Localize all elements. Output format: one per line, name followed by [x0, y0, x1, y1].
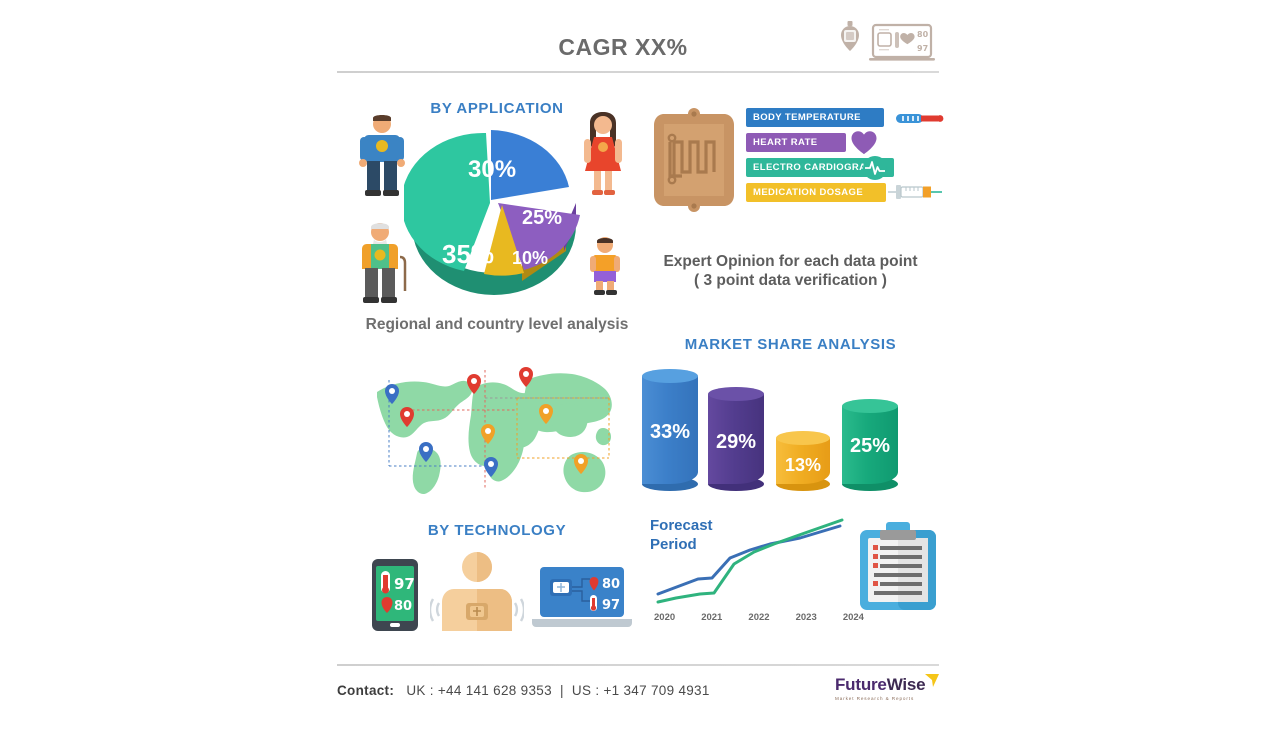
heart-icon — [850, 130, 884, 152]
pie-svg: 30% 25% 10% 35% — [404, 111, 584, 296]
header-divider — [337, 71, 939, 73]
svg-text:97: 97 — [602, 598, 620, 613]
contact-label: Contact: — [337, 683, 394, 698]
label-text: MEDICATION DOSAGE — [753, 187, 863, 198]
svg-text:80: 80 — [602, 577, 620, 592]
header-watermark-icons: 80 97 — [829, 20, 939, 64]
infographic-sheet: CAGR XX% 80 97 — [337, 0, 939, 731]
contact-line: Contact: UK : +44 141 628 9353 | US : +1… — [337, 683, 710, 698]
bar-company-1[interactable]: 33% — [642, 369, 698, 491]
pie-chart-by-application: 30% 25% 10% 35% — [352, 95, 642, 310]
bar-value-2: 29% — [708, 431, 764, 454]
body-sensor-patch-icon — [430, 551, 524, 631]
bar-company-4[interactable]: 25% — [842, 399, 898, 491]
pie-label-35: 35% — [442, 239, 494, 269]
infographic-page: CAGR XX% 80 97 — [0, 0, 1280, 731]
label-body-temperature: BODY TEMPERATURE — [746, 108, 884, 127]
logo-name-part1: Future — [835, 675, 887, 694]
clipboard-icon — [860, 522, 936, 610]
smartphone-monitor-icon: 97 80 — [372, 559, 418, 631]
logo-arrow-icon — [923, 672, 941, 688]
person-adult-male-icon — [358, 113, 406, 204]
svg-text:97: 97 — [394, 575, 415, 593]
section-title-regional-text: Regional and country level analysis — [366, 316, 629, 333]
thermometer-icon — [896, 107, 930, 129]
uk-label: UK : — [406, 683, 433, 698]
person-elderly-male-icon — [358, 221, 410, 312]
year-tick: 2024 — [843, 612, 864, 623]
year-tick: 2021 — [701, 612, 722, 623]
logo-name-part2: Wise — [887, 675, 926, 694]
header: CAGR XX% 80 97 — [337, 0, 939, 74]
expert-line-2: ( 3 point data verification ) — [642, 271, 939, 290]
uk-phone[interactable]: +44 141 628 9353 — [438, 683, 552, 698]
svg-text:97: 97 — [917, 44, 928, 53]
section-title-regional: Regional and country level analysis — [352, 315, 642, 335]
separator: | — [560, 683, 564, 698]
section-title-by-technology: BY TECHNOLOGY — [352, 522, 642, 539]
ecg-icon — [862, 155, 896, 177]
footer-divider — [337, 664, 939, 666]
expert-line-1: Expert Opinion for each data point — [642, 252, 939, 271]
syringe-icon — [888, 181, 944, 203]
page-title: CAGR XX% — [337, 34, 909, 61]
us-phone[interactable]: +1 347 709 4931 — [603, 683, 709, 698]
market-share-bar-chart: 33% 29% 13% 25% — [642, 363, 932, 491]
label-text: HEART RATE — [753, 137, 818, 148]
label-medication-dosage: MEDICATION DOSAGE — [746, 183, 886, 202]
section-title-market-share: MARKET SHARE ANALYSIS — [642, 336, 939, 353]
sensor-parameters-block: BODY TEMPERATURE HEART RATE ELECTRO CARD… — [650, 108, 939, 218]
svg-text:80: 80 — [394, 599, 412, 614]
person-adult-female-icon — [580, 111, 626, 206]
bar-value-1: 33% — [642, 421, 698, 444]
label-text: BODY TEMPERATURE — [753, 112, 861, 123]
sensor-patch-icon — [650, 108, 738, 212]
futurewise-logo[interactable]: FutureWise Market Research & Reports — [835, 675, 939, 711]
logo-tagline: Market Research & Reports — [835, 696, 939, 701]
label-heart-rate: HEART RATE — [746, 133, 846, 152]
world-map — [367, 362, 617, 507]
year-tick: 2023 — [796, 612, 817, 623]
forecast-line-chart: Forecast Period 2020 2021 2022 2023 2024 — [642, 512, 939, 637]
year-tick: 2022 — [748, 612, 769, 623]
person-child-icon — [588, 235, 622, 302]
bar-company-2[interactable]: 29% — [708, 387, 764, 491]
svg-text:80: 80 — [917, 30, 929, 39]
forecast-year-axis: 2020 2021 2022 2023 2024 — [654, 612, 864, 623]
bar-value-3: 13% — [776, 455, 830, 476]
forecast-series-blue — [658, 526, 840, 594]
bar-value-4: 25% — [842, 435, 898, 458]
label-text: ELECTRO CARDIOGRAM — [753, 162, 875, 173]
pie-label-30: 30% — [468, 156, 516, 183]
laptop-monitor-icon: 80 97 — [532, 567, 632, 629]
year-tick: 2020 — [654, 612, 675, 623]
expert-opinion-text: Expert Opinion for each data point ( 3 p… — [642, 252, 939, 290]
bar-company-3[interactable]: 13% — [776, 431, 830, 491]
us-label: US : — [572, 683, 599, 698]
pie-label-10: 10% — [512, 248, 548, 268]
pie-label-25: 25% — [522, 207, 562, 229]
forecast-svg — [650, 516, 850, 612]
technology-devices: 97 80 80 — [362, 545, 622, 635]
